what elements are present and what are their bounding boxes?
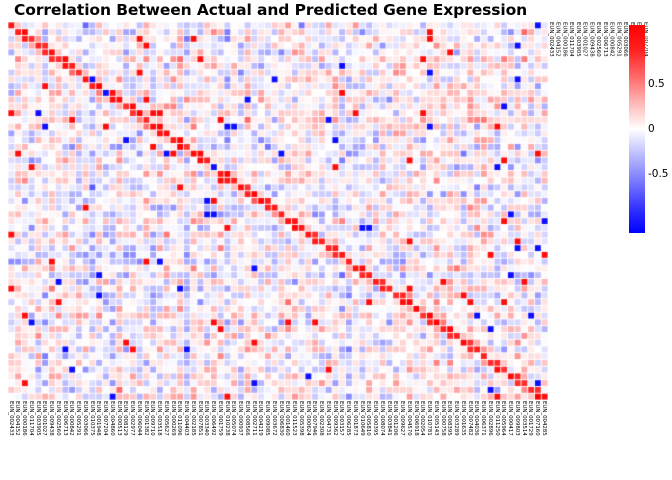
column-label: EUN_001206 — [392, 401, 398, 436]
column-label: EUN_004219 — [257, 401, 263, 436]
column-label: EUN_001759 — [217, 401, 223, 436]
column-label: EUN_007204 — [102, 401, 108, 436]
column-label: EUN_000842 — [68, 401, 74, 436]
column-label: EUN_002054 — [419, 401, 425, 436]
column-label: EUN_003518 — [156, 401, 162, 436]
column-label: EUN_008566 — [244, 401, 250, 436]
column-label: EUN_005143 — [433, 401, 439, 436]
row-label: EUN_011704 — [567, 22, 574, 57]
column-label: EUN_001729 — [527, 401, 533, 436]
column-label: EUN_009710 — [149, 401, 155, 436]
colorbar-tick-0: 0.5 — [648, 78, 665, 90]
column-label: EUN_001635 — [460, 401, 466, 436]
column-label: EUN_005074 — [230, 401, 236, 436]
column-label: EUN_001027 — [41, 401, 47, 436]
column-label: EUN_006044 — [136, 401, 142, 436]
column-label: EUN_001460 — [284, 401, 290, 436]
column-label: EUN_003157 — [338, 401, 344, 436]
column-label: EUN_008074 — [379, 401, 385, 436]
column-label: EUN_011704 — [28, 401, 34, 436]
column-label: EUN_003672 — [271, 401, 277, 436]
column-label: EUN_009438 — [48, 401, 54, 436]
column-label: EUN_002185 — [190, 401, 196, 436]
column-label: EUN_005964 — [500, 401, 506, 436]
column-label: EUN_004570 — [406, 401, 412, 436]
column-label: EUN_002560 — [55, 401, 61, 436]
column-label: EUN_002896 — [487, 401, 493, 436]
column-label: EUN_004731 — [325, 401, 331, 436]
column-label: EUN_003289 — [453, 401, 459, 436]
column-label: EUN_001873 — [352, 401, 358, 436]
column-label: EUN_005810 — [365, 401, 371, 436]
column-label: EUN_007160 — [534, 401, 540, 436]
correlation-heatmap-figure: Correlation Between Actual and Predicted… — [0, 0, 672, 480]
row-label: EUN_003905 — [574, 22, 581, 57]
column-label: EUN_005627 — [163, 401, 169, 436]
column-label: EUN_003340 — [203, 401, 209, 436]
column-label: EUN_008129 — [122, 401, 128, 436]
row-label: EUN_000842 — [608, 22, 615, 57]
column-label: EUN_011523 — [291, 401, 297, 436]
column-label: EUN_009627 — [399, 401, 405, 436]
row-label: EUN_000186 — [561, 22, 568, 57]
column-label: EUN_001948 — [95, 401, 101, 436]
column-label-axis: EUN_002433EUN_004152EUN_000186EUN_011704… — [8, 401, 553, 480]
column-label: EUN_004152 — [14, 401, 20, 436]
column-label: EUN_006492 — [210, 401, 216, 436]
row-label: EUN_004152 — [554, 22, 561, 57]
column-label: EUN_005398 — [298, 401, 304, 436]
row-label: EUN_001027 — [581, 22, 588, 57]
column-label: EUN_007946 — [311, 401, 317, 436]
row-label: EUN_003066 — [621, 22, 628, 57]
colorbar-tick-1: 0 — [648, 123, 655, 135]
column-label: EUN_005291 — [75, 401, 81, 436]
column-label: EUN_000417 — [507, 401, 513, 436]
column-label: EUN_008395 — [446, 401, 452, 436]
column-label: EUN_002308 — [318, 401, 324, 436]
row-label: EUN_005291 — [615, 22, 622, 57]
colorbar-gradient — [629, 25, 645, 233]
column-label: EUN_006371 — [480, 401, 486, 436]
row-label: EUN_006713 — [601, 22, 608, 57]
column-label: EUN_011096 — [176, 401, 182, 436]
row-label: EUN_009438 — [588, 22, 595, 57]
column-label: EUN_010781 — [426, 401, 432, 436]
row-label: EUN_002560 — [594, 22, 601, 57]
heatmap-plot-area[interactable] — [8, 22, 548, 400]
colorbar-tick-2: -0.5 — [648, 168, 669, 180]
column-label: EUN_009803 — [514, 401, 520, 436]
column-label: EUN_006285 — [345, 401, 351, 436]
column-label: EUN_004860 — [109, 401, 115, 436]
column-label: EUN_004036 — [473, 401, 479, 436]
column-label: EUN_004403 — [183, 401, 189, 436]
column-label: EUN_004285 — [541, 401, 547, 436]
column-label: EUN_000395 — [372, 401, 378, 436]
column-label: EUN_002977 — [129, 401, 135, 436]
column-label: EUN_000937 — [237, 401, 243, 436]
column-label: EUN_000186 — [21, 401, 27, 436]
page-title: Correlation Between Actual and Predicted… — [14, 1, 527, 19]
heatmap-cells[interactable] — [8, 22, 548, 400]
column-label: EUN_009085 — [264, 401, 270, 436]
column-label: EUN_003066 — [82, 401, 88, 436]
